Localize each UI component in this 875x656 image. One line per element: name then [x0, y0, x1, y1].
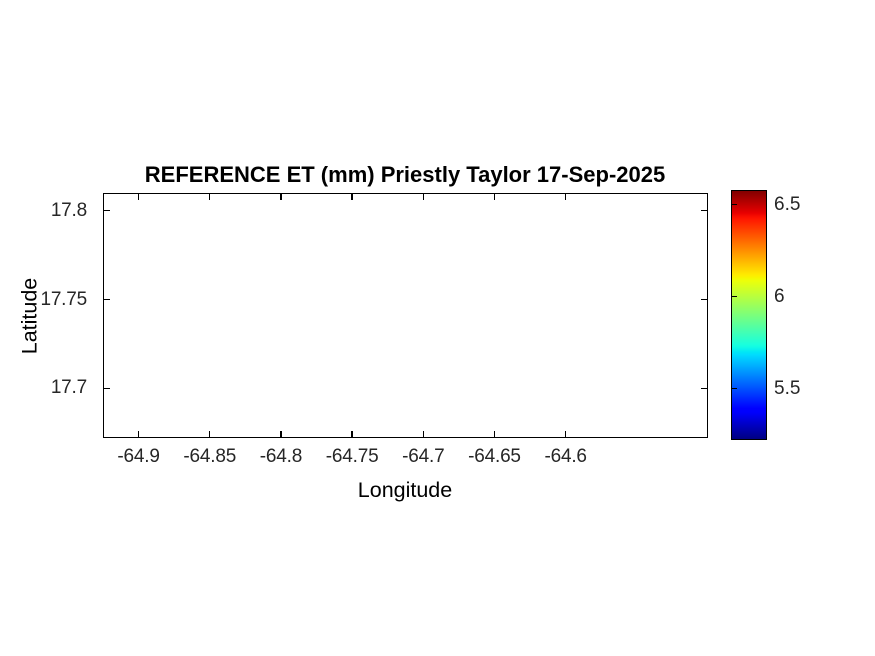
- x-tick-mark: [494, 193, 495, 200]
- y-tick-mark: [701, 388, 708, 389]
- colorbar-tick-label: 6.5: [774, 194, 800, 216]
- x-tick-mark: [280, 193, 281, 200]
- x-tick-mark: [565, 193, 566, 200]
- x-tick-label: -64.7: [402, 446, 444, 468]
- x-tick-label: -64.8: [260, 446, 302, 468]
- x-tick-mark: [138, 431, 139, 438]
- y-tick-label: 17.7: [51, 377, 87, 399]
- colorbar: [731, 190, 767, 440]
- colorbar-tick-mark: [731, 388, 737, 389]
- colorbar-tick-mark: [731, 296, 737, 297]
- x-tick-mark: [280, 431, 281, 438]
- x-tick-mark: [423, 431, 424, 438]
- colorbar-tick-mark: [731, 204, 737, 205]
- x-tick-label: -64.9: [117, 446, 159, 468]
- x-tick-mark: [351, 193, 352, 200]
- x-tick-label: -64.65: [468, 446, 521, 468]
- axes-frame: [103, 193, 708, 438]
- y-tick-mark: [701, 299, 708, 300]
- y-tick-mark: [103, 388, 110, 389]
- x-tick-mark: [565, 431, 566, 438]
- x-tick-mark: [351, 431, 352, 438]
- colorbar-tick-label: 5.5: [774, 378, 800, 400]
- x-tick-label: -64.85: [183, 446, 236, 468]
- y-tick-label: 17.8: [51, 200, 87, 222]
- y-tick-mark: [103, 299, 110, 300]
- x-axis-title: Longitude: [358, 478, 452, 503]
- page-title: REFERENCE ET (mm) Priestly Taylor 17-Sep…: [145, 162, 665, 188]
- x-tick-mark: [138, 193, 139, 200]
- colorbar-gradient: [731, 190, 767, 440]
- x-tick-mark: [209, 193, 210, 200]
- y-tick-label: 17.75: [40, 289, 87, 311]
- y-tick-mark: [103, 210, 110, 211]
- x-tick-mark: [209, 431, 210, 438]
- matlab-figure: REFERENCE ET (mm) Priestly Taylor 17-Sep…: [0, 0, 875, 656]
- y-tick-mark: [701, 210, 708, 211]
- y-axis-title: Latitude: [18, 278, 43, 355]
- x-tick-mark: [494, 431, 495, 438]
- colorbar-tick-label: 6: [774, 286, 785, 308]
- x-tick-label: -64.6: [544, 446, 586, 468]
- x-tick-mark: [423, 193, 424, 200]
- x-tick-label: -64.75: [326, 446, 379, 468]
